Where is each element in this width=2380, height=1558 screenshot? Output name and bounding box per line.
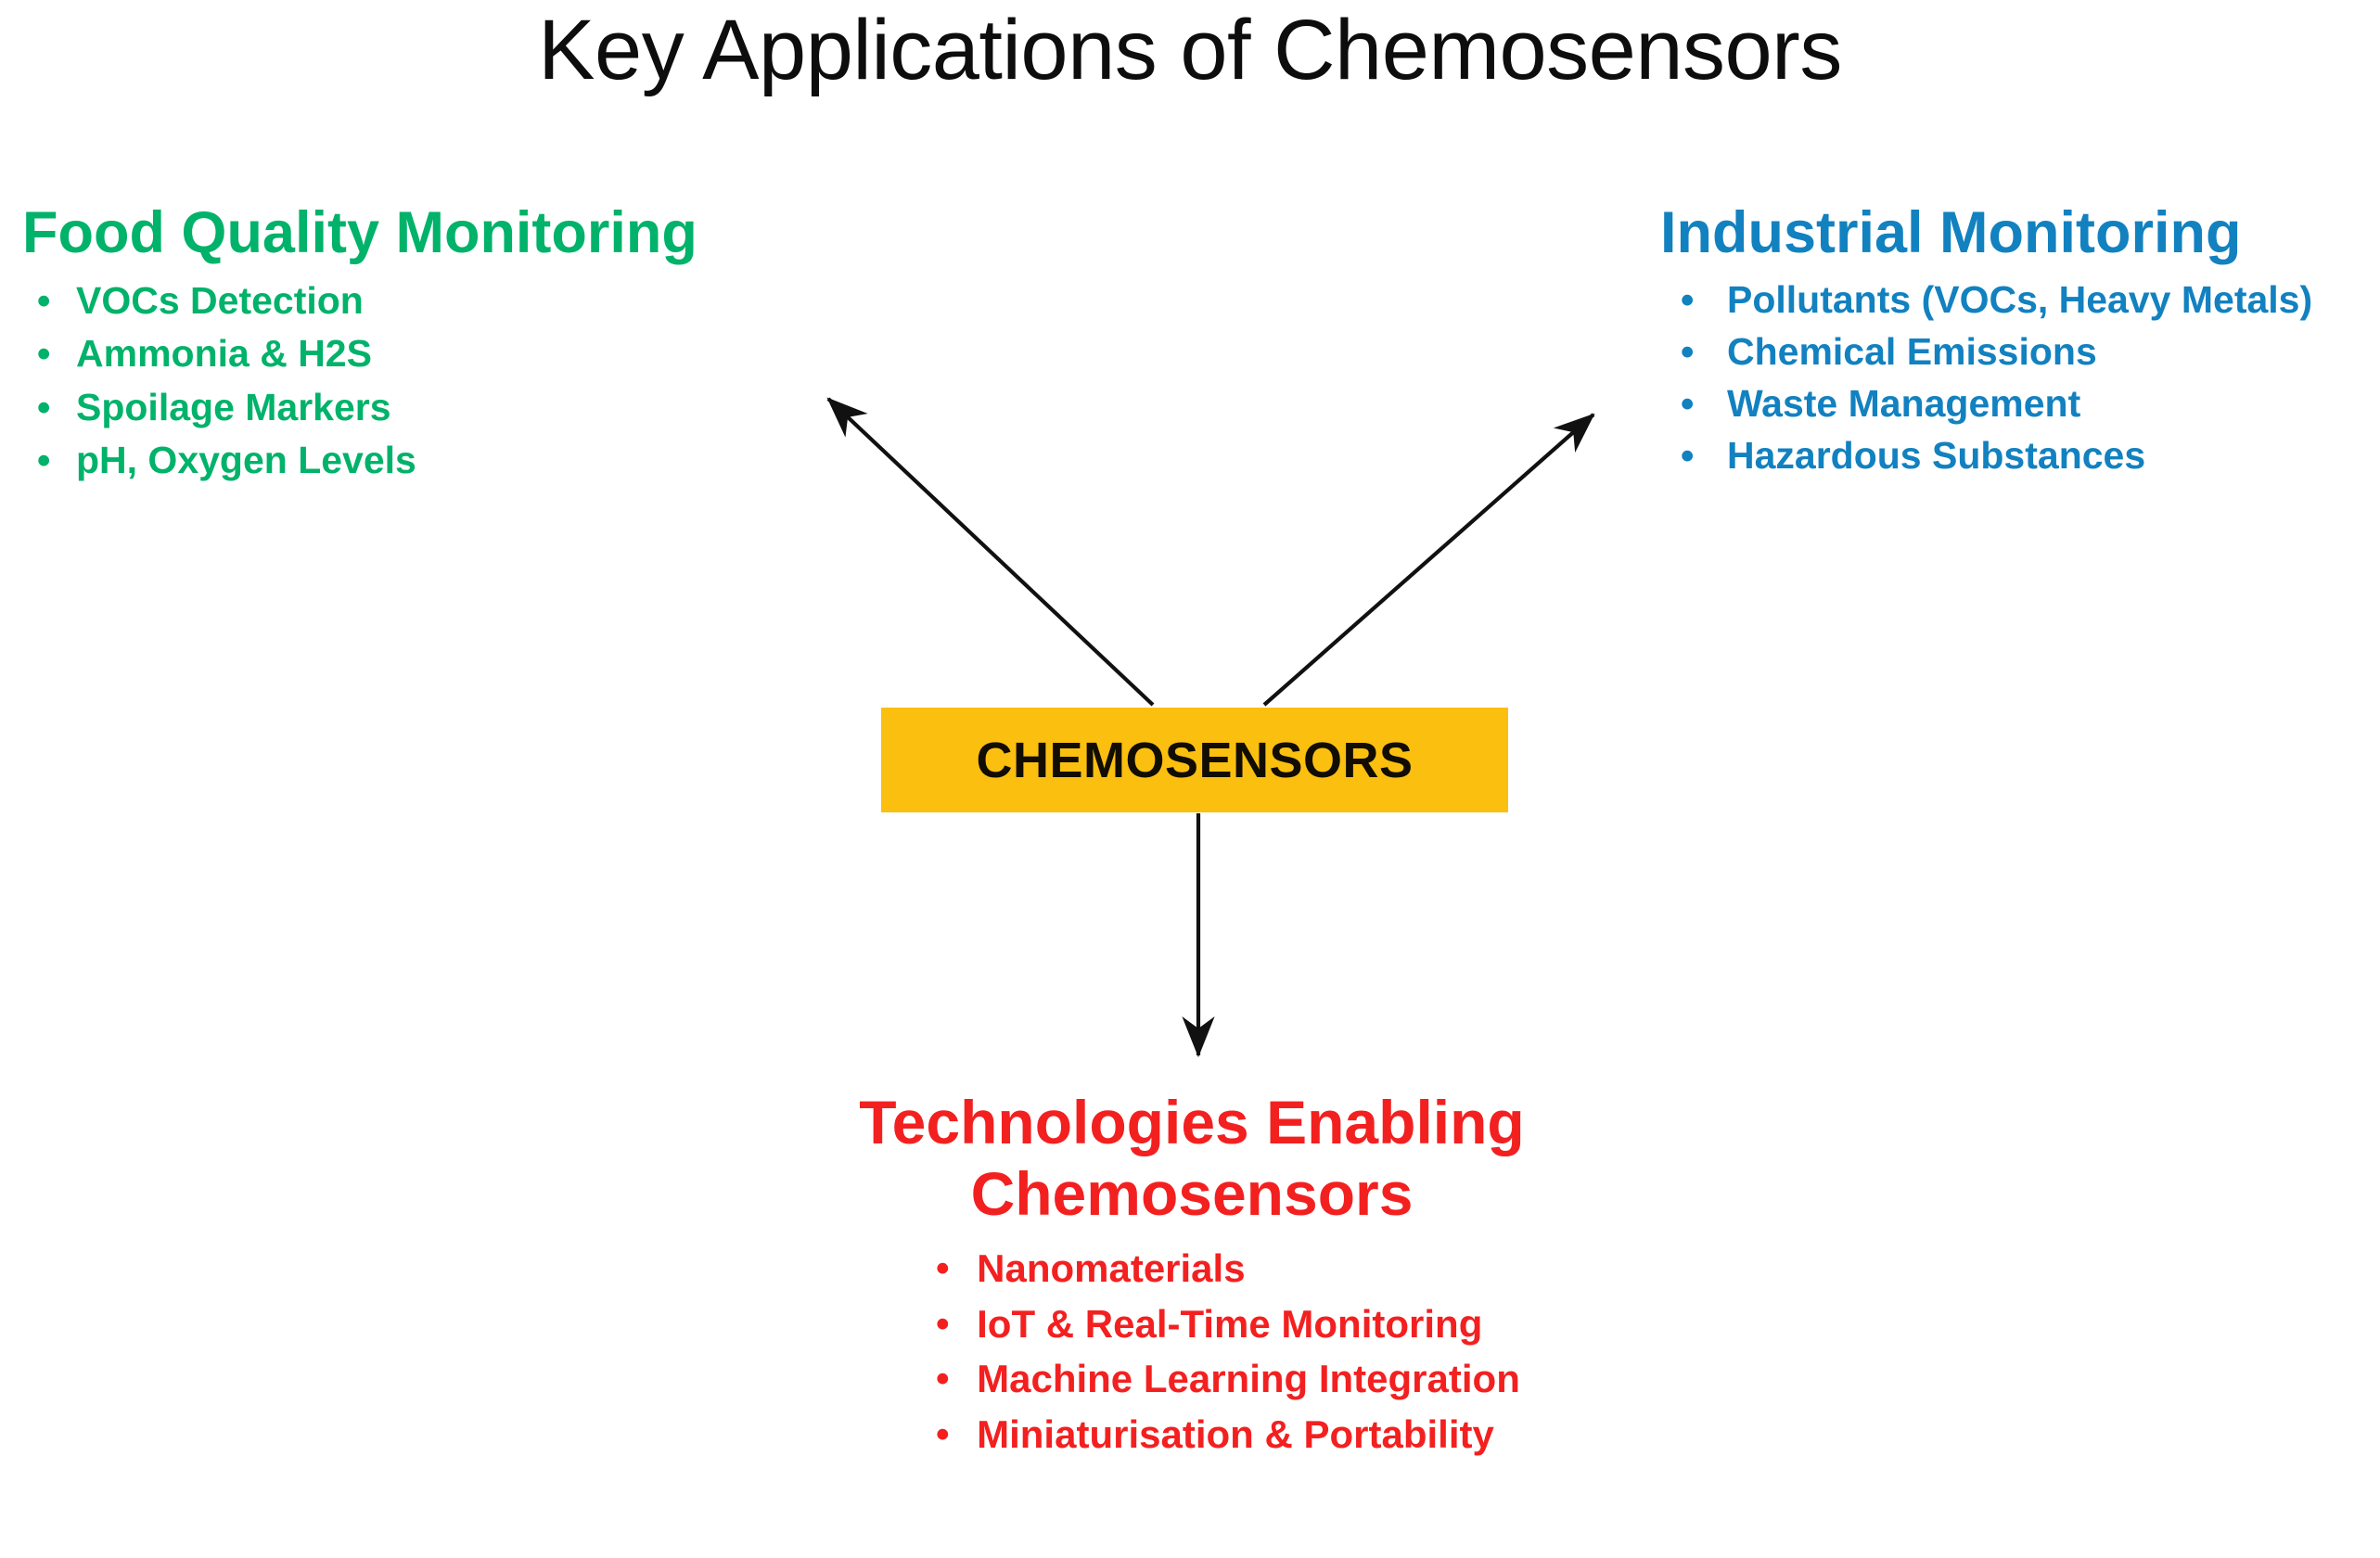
- bullet-icon: •: [37, 275, 50, 326]
- bullet-icon: •: [1681, 327, 1694, 377]
- bullet-list-food-quality: • VOCs Detection • Ammonia & H2S • Spoil…: [22, 275, 950, 486]
- bullet-list-technologies: • Nanomaterials • IoT & Real-Time Monito…: [919, 1244, 1520, 1464]
- bullet-icon: •: [37, 382, 50, 433]
- list-item-label: Ammonia & H2S: [76, 332, 372, 375]
- list-item: • Pollutants (VOCs, Heavy Metals): [1660, 275, 2380, 325]
- list-item-label: Machine Learning Integration: [977, 1357, 1520, 1400]
- branch-heading-industrial: Industrial Monitoring: [1660, 200, 2380, 266]
- list-item-label: IoT & Real-Time Monitoring: [977, 1302, 1482, 1346]
- bullet-list-industrial: • Pollutants (VOCs, Heavy Metals) • Chem…: [1660, 275, 2380, 481]
- diagram-canvas: Key Applications of Chemosensors Food Qu…: [0, 0, 2380, 1558]
- list-item-label: VOCs Detection: [76, 279, 364, 322]
- bullet-icon: •: [37, 435, 50, 486]
- bullet-icon: •: [1681, 431, 1694, 480]
- arrow-to-industrial: [1264, 415, 1593, 705]
- list-item: • pH, Oxygen Levels: [22, 435, 950, 486]
- list-item-label: Pollutants (VOCs, Heavy Metals): [1727, 278, 2312, 321]
- branch-food-quality: Food Quality Monitoring • VOCs Detection…: [22, 200, 950, 489]
- bullet-icon: •: [1681, 275, 1694, 325]
- list-item: • Miniaturisation & Portability: [919, 1410, 1520, 1461]
- bullet-icon: •: [936, 1299, 949, 1348]
- central-node-label: CHEMOSENSORS: [976, 732, 1413, 789]
- central-node-chemosensors: CHEMOSENSORS: [881, 708, 1508, 812]
- list-item: • Machine Learning Integration: [919, 1354, 1520, 1405]
- list-item: • Ammonia & H2S: [22, 328, 950, 379]
- list-item: • Spoilage Markers: [22, 382, 950, 433]
- list-item-label: Nanomaterials: [977, 1246, 1245, 1290]
- list-item-label: Miniaturisation & Portability: [977, 1412, 1494, 1456]
- list-item-label: Waste Management: [1727, 382, 2080, 425]
- branch-technologies: Technologies Enabling Chemosensors • Nan…: [649, 1087, 1734, 1464]
- list-item-label: Chemical Emissions: [1727, 330, 2097, 373]
- list-item-label: Hazardous Substances: [1727, 434, 2145, 477]
- bullet-icon: •: [37, 328, 50, 379]
- list-item: • Hazardous Substances: [1660, 431, 2380, 480]
- list-item: • Nanomaterials: [919, 1244, 1520, 1295]
- bullet-icon: •: [1681, 379, 1694, 428]
- branch-heading-food-quality: Food Quality Monitoring: [22, 200, 950, 266]
- branch-industrial: Industrial Monitoring • Pollutants (VOCs…: [1660, 200, 2380, 484]
- page-title: Key Applications of Chemosensors: [0, 6, 2380, 96]
- list-item-label: pH, Oxygen Levels: [76, 439, 416, 481]
- bullet-icon: •: [936, 1244, 949, 1293]
- bullet-icon: •: [936, 1410, 949, 1459]
- list-item: • IoT & Real-Time Monitoring: [919, 1299, 1520, 1350]
- list-item: • Waste Management: [1660, 379, 2380, 428]
- branch-heading-technologies: Technologies Enabling Chemosensors: [649, 1087, 1734, 1229]
- list-item: • Chemical Emissions: [1660, 327, 2380, 377]
- list-item-label: Spoilage Markers: [76, 386, 391, 428]
- bullet-icon: •: [936, 1354, 949, 1403]
- list-item: • VOCs Detection: [22, 275, 950, 326]
